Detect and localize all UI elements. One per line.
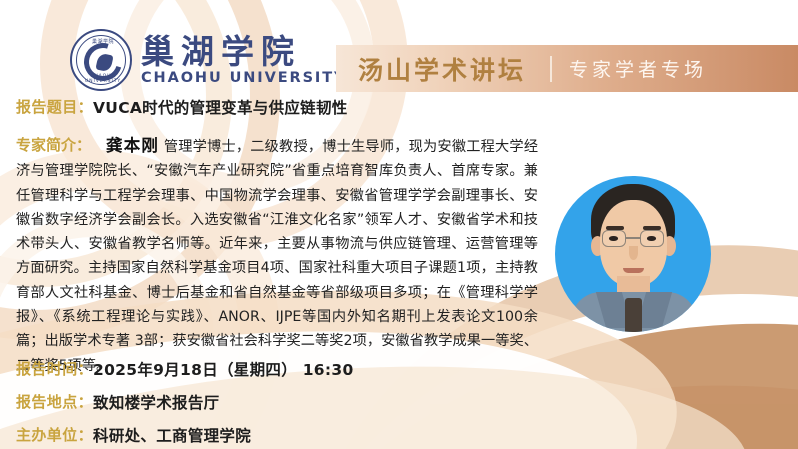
speaker-name: 龚本刚 bbox=[106, 136, 159, 155]
report-title-row: 报告题目： VUCA时代的管理变革与供应链韧性 bbox=[16, 96, 348, 118]
portrait-nose bbox=[629, 246, 638, 260]
portrait-tie bbox=[625, 298, 642, 332]
speaker-bio-text: 管理学博士，二级教授，博士生导师，现为安徽工程大学经济与管理学院院长、“安徽汽车… bbox=[16, 139, 538, 374]
portrait-eye-right bbox=[647, 236, 656, 241]
report-title-label: 报告题目： bbox=[16, 96, 93, 117]
organizer-row: 主办单位： 科研处、工商管理学院 bbox=[16, 424, 251, 446]
speaker-bio-row: 专家简介： 龚本刚 管理学博士，二级教授，博士生导师，现为安徽工程大学经济与管理… bbox=[16, 134, 546, 378]
portrait-mouth bbox=[623, 268, 644, 273]
report-place-label: 报告地点： bbox=[16, 391, 93, 412]
report-time-label: 报告时间： bbox=[16, 358, 93, 379]
speaker-portrait bbox=[555, 176, 711, 332]
report-time-value: 2025年9月18日（星期四） 16:30 bbox=[93, 358, 354, 380]
organizer-label: 主办单位： bbox=[16, 424, 93, 445]
portrait-glasses-bridge bbox=[626, 237, 640, 239]
report-place-row: 报告地点： 致知楼学术报告厅 bbox=[16, 391, 219, 413]
report-place-value: 致知楼学术报告厅 bbox=[93, 391, 219, 413]
speaker-bio-body: 龚本刚 管理学博士，二级教授，博士生导师，现为安徽工程大学经济与管理学院院长、“… bbox=[16, 134, 538, 378]
portrait-eye-left bbox=[609, 236, 618, 241]
report-title-value: VUCA时代的管理变革与供应链韧性 bbox=[93, 96, 348, 118]
organizer-value: 科研处、工商管理学院 bbox=[93, 424, 251, 446]
report-time-row: 报告时间： 2025年9月18日（星期四） 16:30 bbox=[16, 358, 354, 380]
poster-canvas: 巢湖学院 CHAOHU UNIVERSITY 巢湖学院 CHAOHU UNIVE… bbox=[0, 0, 798, 449]
